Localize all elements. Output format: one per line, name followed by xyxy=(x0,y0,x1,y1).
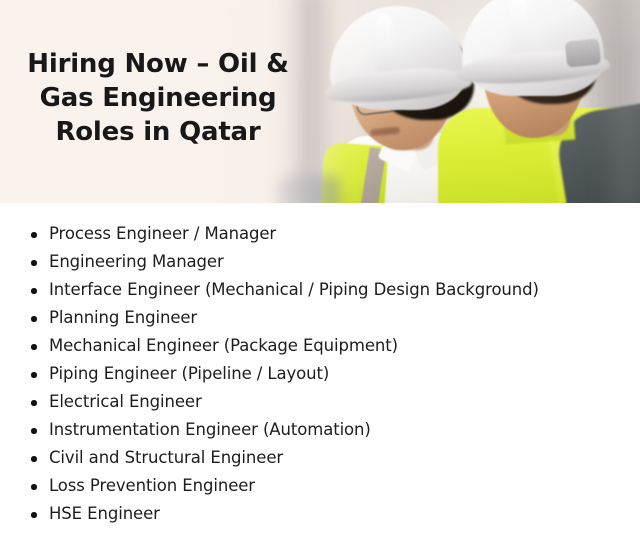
list-item: Electrical Engineer xyxy=(0,388,640,416)
roles-list: Process Engineer / ManagerEngineering Ma… xyxy=(0,220,640,528)
job-posting-poster: Hiring Now – Oil & Gas Engineering Roles… xyxy=(0,0,640,536)
list-item: Interface Engineer (Mechanical / Piping … xyxy=(0,276,640,304)
hero-header: Hiring Now – Oil & Gas Engineering Roles… xyxy=(0,0,640,203)
list-item: Piping Engineer (Pipeline / Layout) xyxy=(0,360,640,388)
list-item: Mechanical Engineer (Package Equipment) xyxy=(0,332,640,360)
list-item: Engineering Manager xyxy=(0,248,640,276)
list-item: Process Engineer / Manager xyxy=(0,220,640,248)
list-item: HSE Engineer xyxy=(0,500,640,528)
list-item: Planning Engineer xyxy=(0,304,640,332)
list-item: Civil and Structural Engineer xyxy=(0,444,640,472)
page-title: Hiring Now – Oil & Gas Engineering Roles… xyxy=(12,48,304,149)
list-item: Loss Prevention Engineer xyxy=(0,472,640,500)
list-item: Instrumentation Engineer (Automation) xyxy=(0,416,640,444)
roles-section: Process Engineer / ManagerEngineering Ma… xyxy=(0,203,640,536)
